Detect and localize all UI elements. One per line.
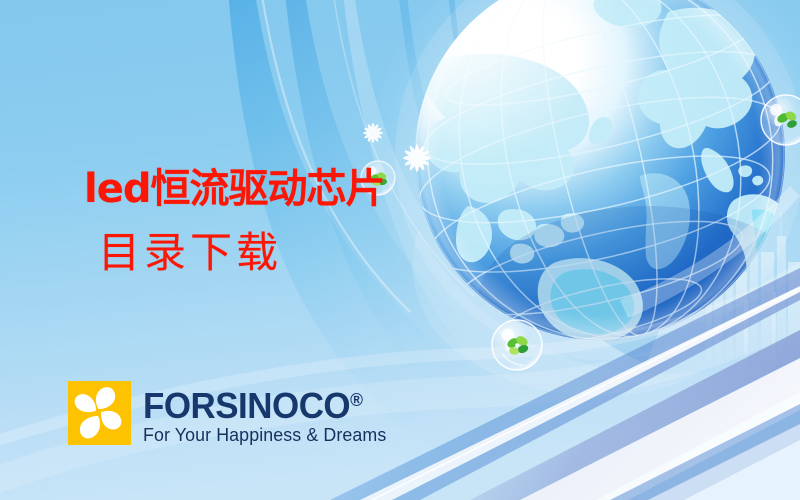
logo-company-name-text: FORSINOCO: [143, 385, 350, 426]
logo-text-block: FORSINOCO® For Your Happiness & Dreams: [143, 381, 389, 446]
logo-tagline: For Your Happiness & Dreams: [143, 425, 386, 446]
promo-banner: led恒流驱动芯片 目录下载 FORSINOCO® For Your Happi…: [0, 0, 800, 500]
headline-line-2: 目录下载: [98, 228, 282, 278]
four-petal-pinwheel-icon: [68, 381, 131, 445]
company-logo[interactable]: FORSINOCO® For Your Happiness & Dreams: [68, 381, 389, 446]
logo-company-name: FORSINOCO®: [143, 382, 381, 424]
headline-line-1: led恒流驱动芯片: [84, 166, 384, 212]
registered-trademark-icon: ®: [350, 390, 363, 410]
